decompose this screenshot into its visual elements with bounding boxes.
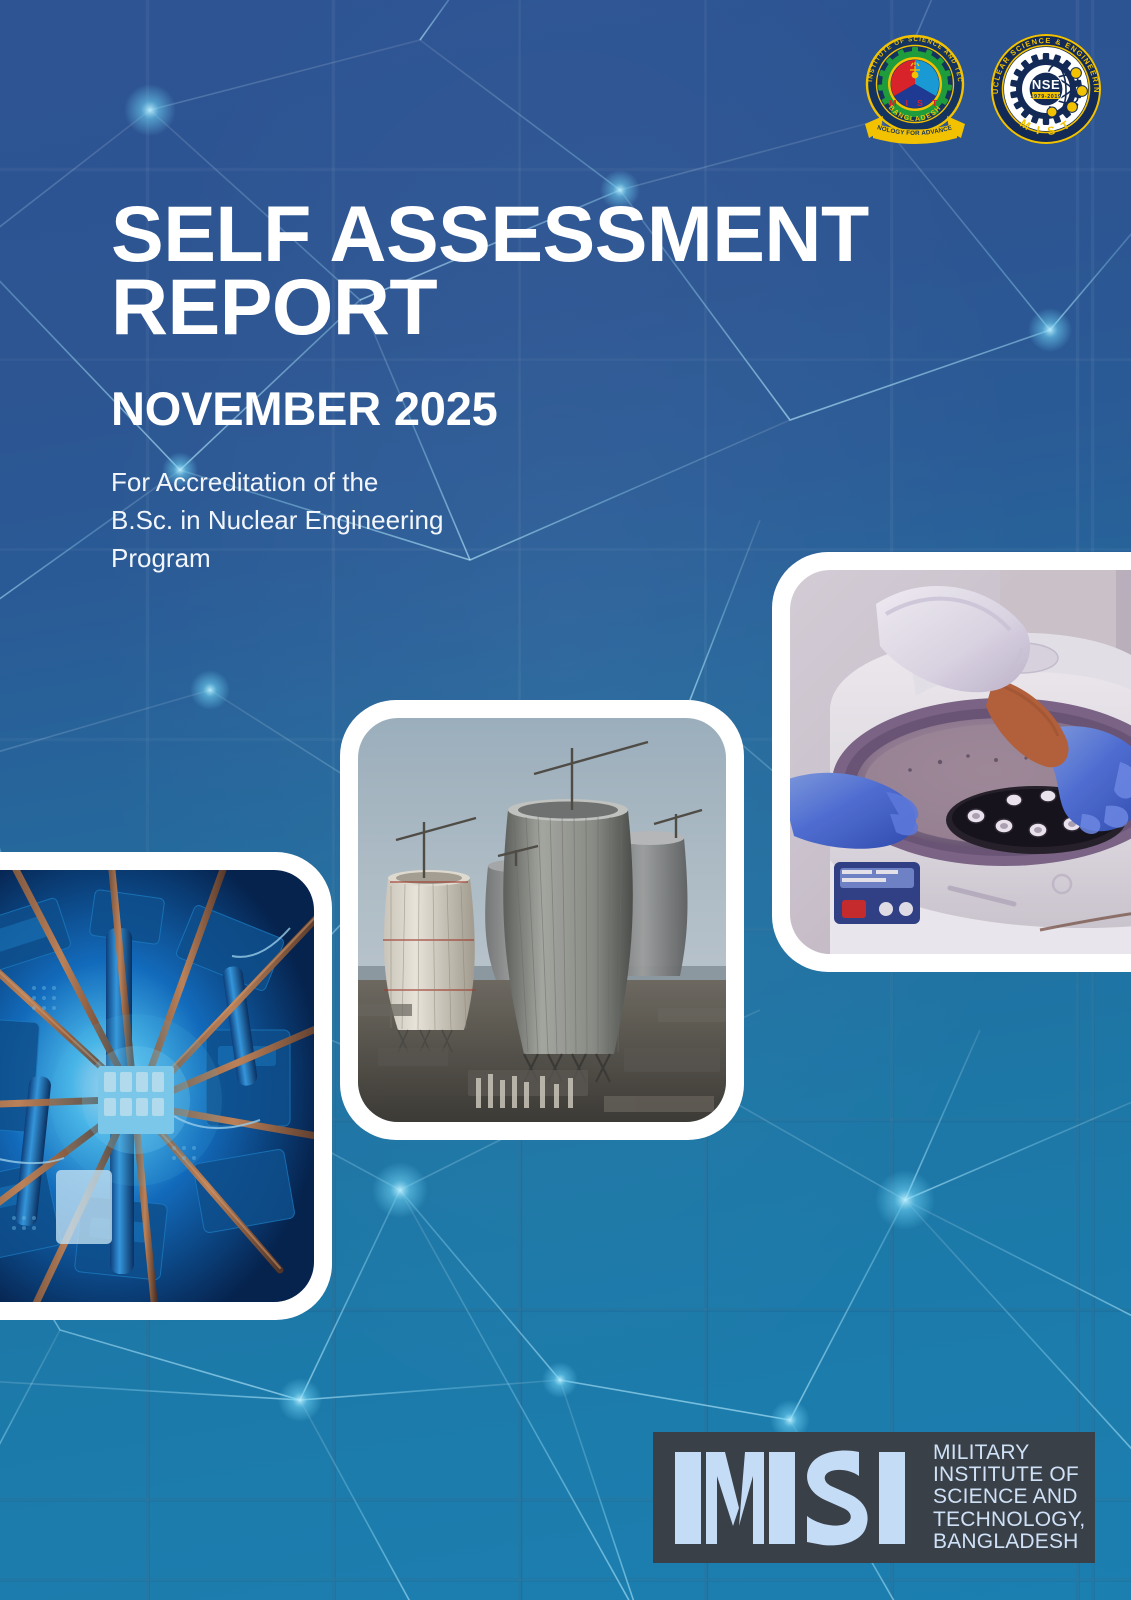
footer-mist-wordmark-text: MILITARY INSTITUTE OF SCIENCE AND TECHNO… <box>933 1442 1085 1553</box>
footer-line-2: INSTITUTE OF <box>933 1464 1085 1486</box>
svg-text:1979-2019: 1979-2019 <box>1030 94 1061 100</box>
svg-text:NSE: NSE <box>1032 77 1060 92</box>
photo-cooling-towers-card <box>340 700 744 1140</box>
subtitle-line2: B.Sc. in Nuclear Engineering <box>111 502 971 540</box>
header-logos: MILITARY INSTITUTE OF SCIENCE AND TECHNO… <box>859 32 1107 150</box>
svg-text:M I S T: M I S T <box>889 98 940 108</box>
page-title-line2: REPORT <box>111 271 971 344</box>
page-title: SELF ASSESSMENT REPORT <box>111 198 971 343</box>
photo-reactor-core-card <box>0 852 332 1320</box>
nse-mist-seal-logo: NUCLEAR SCIENCE & ENGINEERING M I S T <box>985 32 1107 150</box>
mist-crest-logo: MILITARY INSTITUTE OF SCIENCE AND TECHNO… <box>859 32 971 150</box>
footer-line-5: BANGLADESH <box>933 1531 1085 1553</box>
report-cover-page: MILITARY INSTITUTE OF SCIENCE AND TECHNO… <box>0 0 1131 1600</box>
subtitle-line1: For Accreditation of the <box>111 464 971 502</box>
report-date: NOVEMBER 2025 <box>111 381 971 436</box>
title-block: SELF ASSESSMENT REPORT NOVEMBER 2025 For… <box>111 198 971 578</box>
photo-cooling-towers <box>358 718 726 1122</box>
photo-laboratory-centrifuge <box>790 570 1131 954</box>
footer-line-4: TECHNOLOGY, <box>933 1509 1085 1531</box>
footer-mist-logo: MILITARY INSTITUTE OF SCIENCE AND TECHNO… <box>653 1432 1095 1563</box>
photo-laboratory-centrifuge-card <box>772 552 1131 972</box>
mist-wordmark-icon <box>673 1446 921 1550</box>
photo-reactor-core <box>0 870 314 1302</box>
footer-line-3: SCIENCE AND <box>933 1486 1085 1508</box>
footer-line-1: MILITARY <box>933 1442 1085 1464</box>
